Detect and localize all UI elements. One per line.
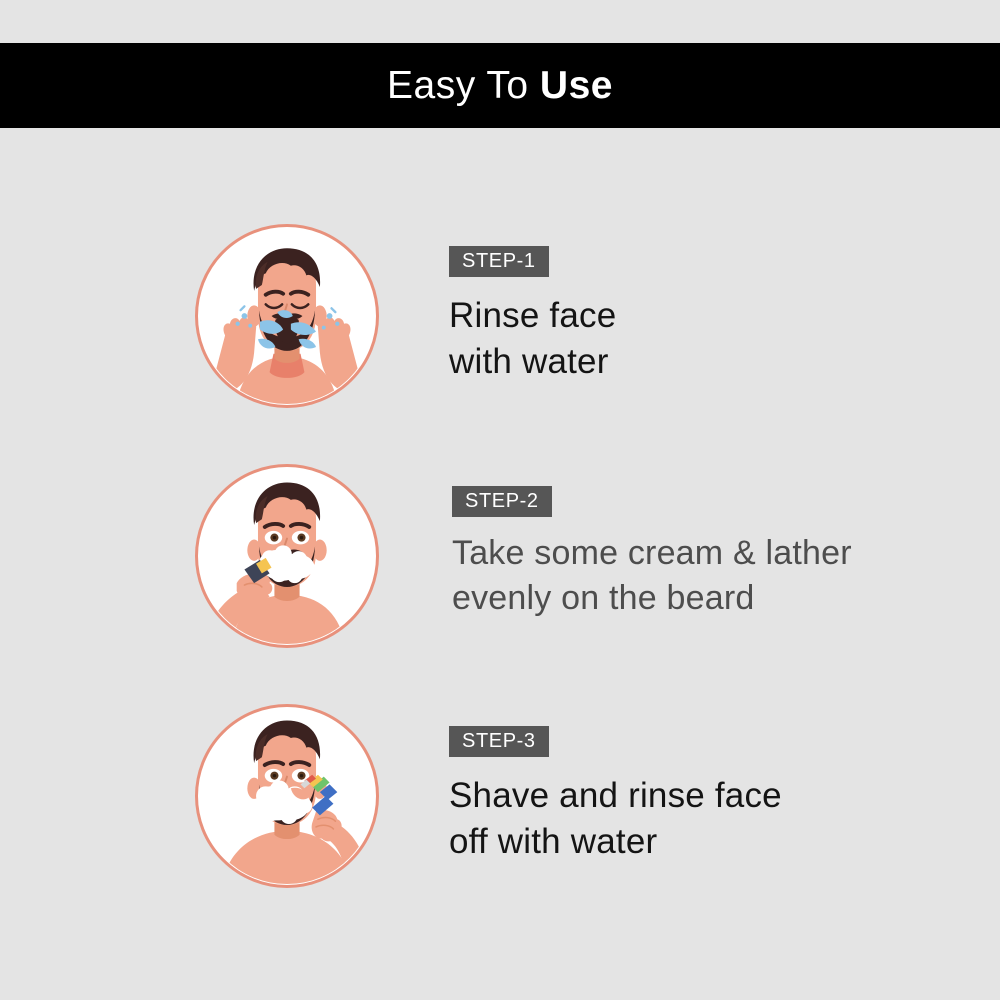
step-2-text: STEP-2 Take some cream & lather evenly o… — [452, 464, 1000, 621]
step-1-badge: STEP-1 — [449, 246, 549, 277]
step-2-illustration-wrap — [195, 464, 379, 648]
step-1-illustration-wrap — [195, 224, 379, 408]
step-2-badge: STEP-2 — [452, 486, 552, 517]
step-item: STEP-3 Shave and rinse face off with wat… — [0, 704, 1000, 888]
man-rinsing-face-with-water-icon — [195, 224, 379, 408]
page-title: Easy To Use — [387, 66, 613, 105]
step-1-description: Rinse face with water — [449, 293, 1000, 385]
step-3-description: Shave and rinse face off with water — [449, 773, 1000, 865]
step-3-text: STEP-3 Shave and rinse face off with wat… — [449, 704, 1000, 865]
step-1-text: STEP-1 Rinse face with water — [449, 224, 1000, 385]
page-title-bold: Use — [540, 64, 613, 107]
step-item: STEP-2 Take some cream & lather evenly o… — [0, 464, 1000, 648]
step-3-illustration-wrap — [195, 704, 379, 888]
man-shaving-with-razor-icon — [195, 704, 379, 888]
steps-list: STEP-1 Rinse face with water — [0, 128, 1000, 1000]
page-title-regular: Easy To — [387, 64, 540, 107]
header-banner: Easy To Use — [0, 43, 1000, 128]
step-item: STEP-1 Rinse face with water — [0, 224, 1000, 408]
step-2-description: Take some cream & lather evenly on the b… — [452, 531, 1000, 621]
step-3-badge: STEP-3 — [449, 726, 549, 757]
man-applying-shaving-cream-icon — [195, 464, 379, 648]
